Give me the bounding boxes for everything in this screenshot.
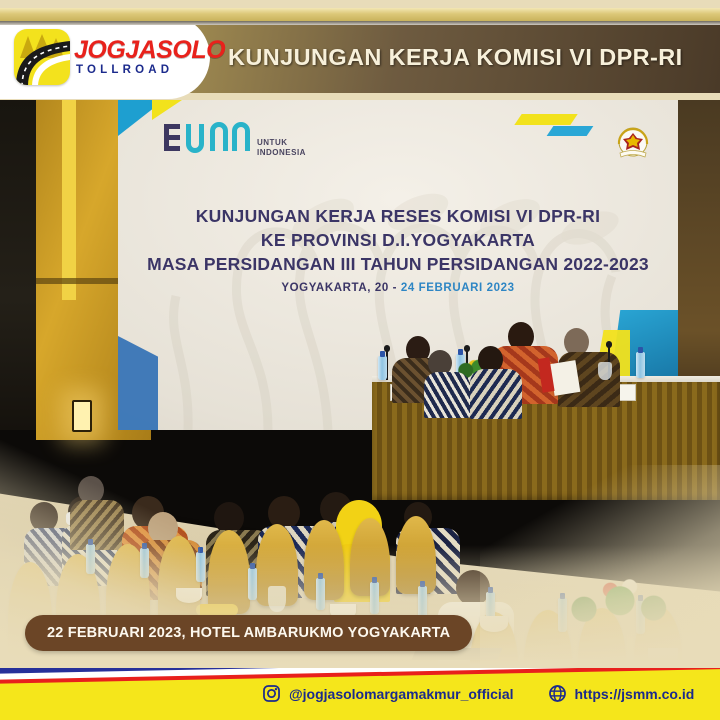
gold-wall-accent (62, 100, 76, 300)
instagram-icon (262, 684, 281, 703)
website-label: https://jsmm.co.id (575, 686, 695, 702)
photo-right-fade (480, 465, 720, 665)
bumn-wordmark (160, 122, 252, 160)
globe-icon (548, 684, 567, 703)
headline-date: YOGYAKARTA, 20 - 24 FEBRUARI 2023 (118, 282, 678, 294)
person-body (424, 372, 470, 418)
instagram-handle[interactable]: @jogjasolomargamakmur_official (262, 684, 514, 703)
event-caption: 22 FEBRUARI 2023, HOTEL AMBARUKMO YOGYAK… (25, 615, 472, 651)
date-highlight: 24 FEBRUARI 2023 (401, 282, 515, 294)
headline-line-3: MASA PERSIDANGAN III TAHUN PERSIDANGAN 2… (118, 252, 678, 276)
backdrop-yellow-chevron (514, 114, 577, 125)
bumn-logo-icon: UNTUK INDONESIA (160, 122, 306, 160)
road-icon (14, 37, 70, 85)
date-prefix: YOGYAKARTA, 20 - (281, 282, 400, 294)
backdrop-headline: KUNJUNGAN KERJA RESES KOMISI VI DPR-RI K… (118, 204, 678, 294)
footer-contact-list: @jogjasolomargamakmur_official https://j… (262, 684, 694, 703)
backdrop-cyan-chevron (547, 126, 594, 136)
poster-canvas: KUNJUNGAN KERJA KOMISI VI DPR-RI JOGJASO… (0, 0, 720, 720)
bumn-letters-icon (160, 122, 252, 156)
headline-line-2: KE PROVINSI D.I.YOGYAKARTA (118, 228, 678, 252)
backdrop-yellow-corner (152, 100, 182, 120)
wall-lamp (72, 400, 92, 432)
garuda-pancasila-emblem-icon (612, 124, 654, 166)
footer-bar: @jogjasolomargamakmur_official https://j… (0, 668, 720, 720)
page-title: KUNJUNGAN KERJA KOMISI VI DPR-RI (228, 21, 683, 93)
brand-name: JOGJASOLO (74, 38, 225, 63)
tollroad-logo-icon (14, 29, 70, 85)
top-gold-strip (0, 8, 720, 21)
drinking-glass (598, 362, 612, 380)
water-bottle (636, 352, 645, 378)
website-link[interactable]: https://jsmm.co.id (548, 684, 695, 703)
bumn-tagline: UNTUK INDONESIA (257, 138, 306, 156)
conference-photo: UNTUK INDONESIA KUNJUNGAN KERJA RESES KO… (0, 100, 720, 665)
headline-line-1: KUNJUNGAN KERJA RESES KOMISI VI DPR-RI (118, 204, 678, 228)
brand-subtitle: TOLLROAD (76, 65, 225, 77)
person-body (470, 369, 522, 419)
brand-text: JOGJASOLO TOLLROAD (74, 38, 225, 77)
water-bottle (378, 356, 387, 380)
brand-logo[interactable]: JOGJASOLO TOLLROAD (14, 26, 214, 88)
instagram-handle-label: @jogjasolomargamakmur_official (289, 686, 514, 702)
